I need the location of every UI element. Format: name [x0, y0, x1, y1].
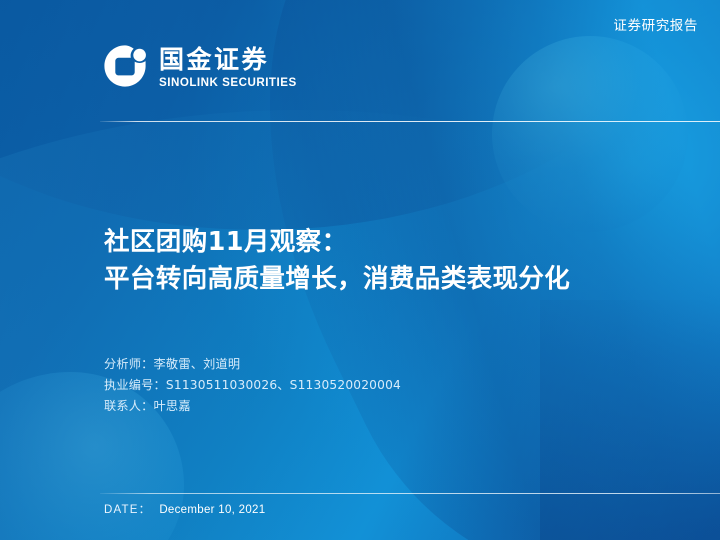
slide-content: 证券研究报告 国金证券 SINOLINK SECURITIES 社区团购11月观… — [0, 0, 720, 540]
date-value: December 10, 2021 — [159, 504, 265, 516]
analyst-info-block: 分析师：李敬雷、刘道明 执业编号：S1130511030026、S1130520… — [104, 354, 401, 417]
brand-wordmark: 国金证券 SINOLINK SECURITIES — [159, 46, 297, 89]
analyst-contact-person: 联系人：叶思嘉 — [104, 396, 401, 417]
sinolink-circle-logo-icon — [103, 44, 149, 90]
brand-logo-lockup: 国金证券 SINOLINK SECURITIES — [103, 44, 297, 90]
report-title-line-2: 平台转向高质量增长，消费品类表现分化 — [104, 261, 664, 298]
analyst-license-numbers: 执业编号：S1130511030026、S1130520020004 — [104, 375, 401, 396]
report-date: DATE： December 10, 2021 — [104, 501, 265, 517]
header-divider — [100, 121, 720, 122]
brand-name-english: SINOLINK SECURITIES — [159, 77, 297, 89]
report-title-line-1: 社区团购11月观察： — [104, 224, 664, 261]
footer-divider — [100, 493, 720, 494]
brand-name-chinese: 国金证券 — [159, 46, 297, 74]
analyst-names: 分析师：李敬雷、刘道明 — [104, 354, 401, 375]
report-type-label: 证券研究报告 — [613, 14, 698, 34]
report-cover-slide: 证券研究报告 国金证券 SINOLINK SECURITIES 社区团购11月观… — [0, 0, 720, 540]
date-label: DATE： — [104, 501, 151, 517]
report-title: 社区团购11月观察： 平台转向高质量增长，消费品类表现分化 — [104, 224, 664, 297]
